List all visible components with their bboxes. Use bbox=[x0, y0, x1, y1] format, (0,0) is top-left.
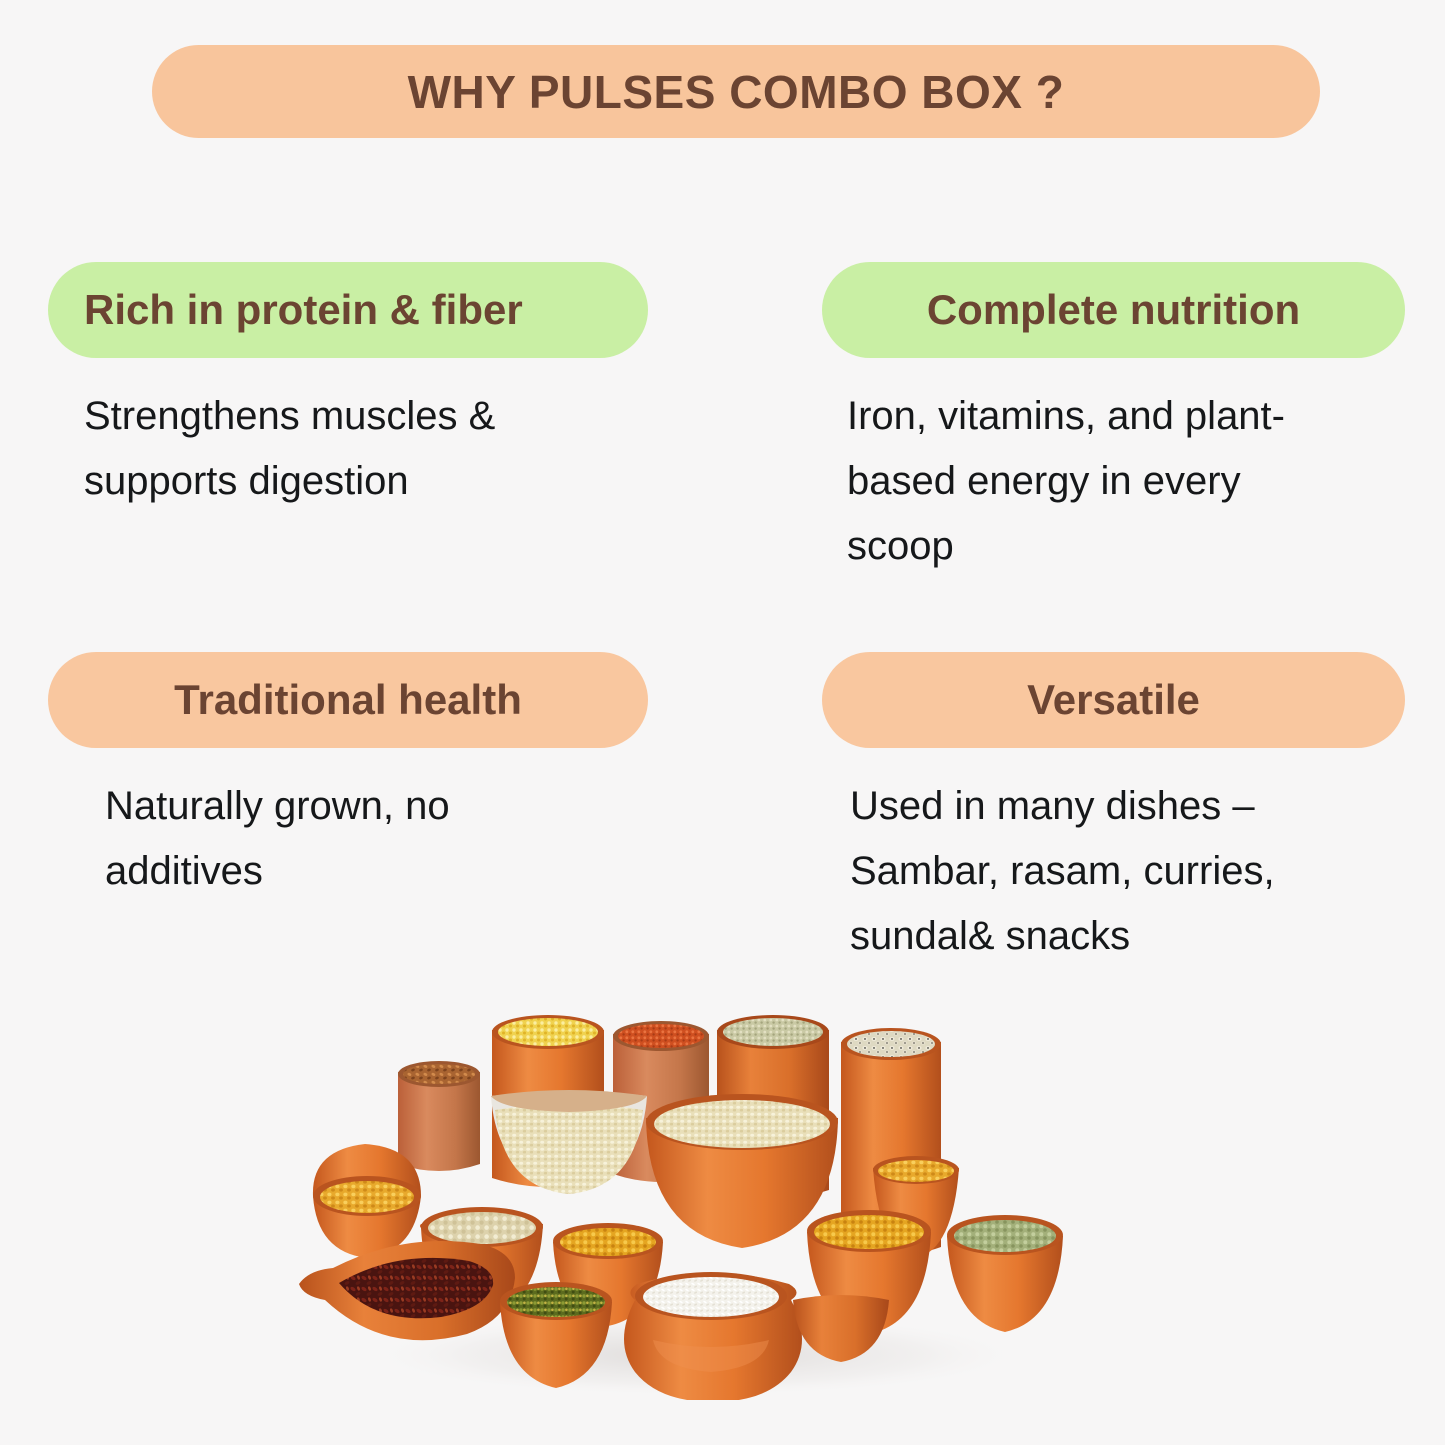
feature-label-complete-nutrition: Complete nutrition bbox=[927, 286, 1300, 334]
vessel-boat-kidneybeans bbox=[299, 1241, 515, 1340]
feature-versatile: Versatile Used in many dishes – Sambar, … bbox=[822, 652, 1405, 968]
feature-label-traditional-health: Traditional health bbox=[174, 676, 522, 724]
feature-pill-rich-in-protein-fiber: Rich in protein & fiber bbox=[48, 262, 648, 358]
infographic-page: WHY PULSES COMBO BOX ? Rich in protein &… bbox=[0, 0, 1445, 1445]
feature-body-complete-nutrition: Iron, vitamins, and plant- based energy … bbox=[822, 384, 1405, 578]
vessel-bowl-puffrice-large bbox=[646, 1094, 838, 1248]
pulses-assortment-photo bbox=[295, 1000, 1085, 1400]
feature-body-traditional-health: Naturally grown, no additives bbox=[48, 774, 648, 904]
vessel-bowl-corn-left bbox=[313, 1144, 421, 1258]
feature-pill-versatile: Versatile bbox=[822, 652, 1405, 748]
feature-traditional-health: Traditional health Naturally grown, no a… bbox=[48, 652, 648, 904]
header-title-pill: WHY PULSES COMBO BOX ? bbox=[152, 45, 1320, 138]
vessel-handi-whiterice bbox=[624, 1272, 802, 1400]
feature-body-rich-in-protein-fiber: Strengthens muscles & supports digestion bbox=[48, 384, 648, 514]
feature-complete-nutrition: Complete nutrition Iron, vitamins, and p… bbox=[822, 262, 1405, 578]
vessel-bowl-greenpeas bbox=[947, 1215, 1063, 1332]
feature-rich-in-protein-fiber: Rich in protein & fiber Strengthens musc… bbox=[48, 262, 648, 514]
vessel-small-brown bbox=[398, 1061, 480, 1171]
feature-pill-traditional-health: Traditional health bbox=[48, 652, 648, 748]
page-title: WHY PULSES COMBO BOX ? bbox=[408, 65, 1065, 119]
feature-label-versatile: Versatile bbox=[1027, 676, 1200, 724]
feature-pill-complete-nutrition: Complete nutrition bbox=[822, 262, 1405, 358]
feature-body-versatile: Used in many dishes – Sambar, rasam, cur… bbox=[822, 774, 1405, 968]
feature-label-rich-in-protein-fiber: Rich in protein & fiber bbox=[84, 286, 523, 334]
